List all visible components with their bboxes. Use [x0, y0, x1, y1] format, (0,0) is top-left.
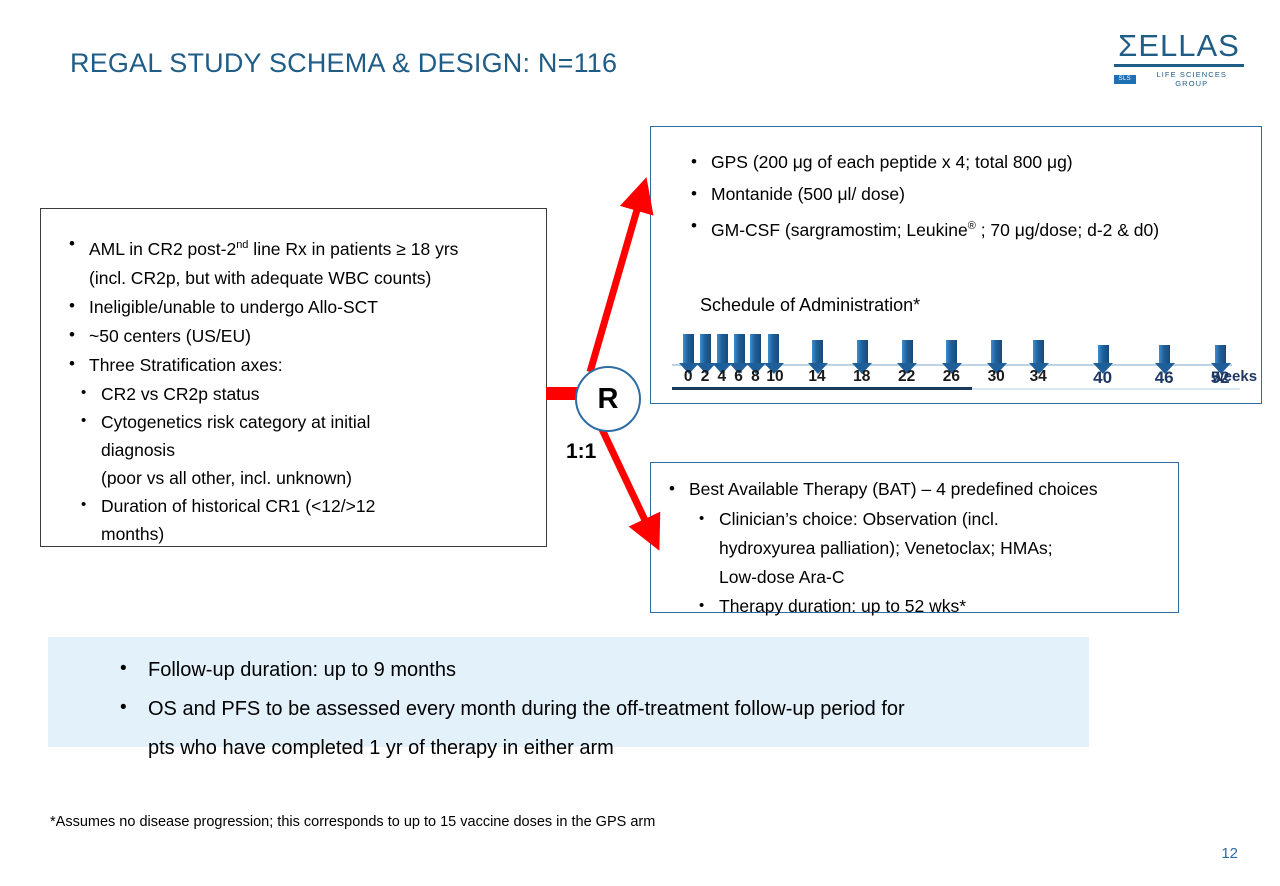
- list-item-continuation: Low-dose Ara-C: [659, 563, 1168, 592]
- timeline-unit-label: weeks: [1212, 368, 1257, 385]
- followup-list: Follow-up duration: up to 9 months OS an…: [108, 651, 1069, 767]
- list-item: Follow-up duration: up to 9 months: [108, 651, 1069, 689]
- list-item: GPS (200 μg of each peptide x 4; total 8…: [681, 147, 1251, 178]
- superscript-registered: ®: [968, 220, 976, 232]
- superscript-nd: nd: [236, 239, 248, 251]
- timeline-arrow: [1159, 345, 1170, 364]
- list-item: Duration of historical CR1 (<12/>12: [59, 492, 530, 520]
- list-item-continuation: (incl. CR2p, but with adequate WBC count…: [59, 264, 530, 292]
- timeline-tick-label: 40: [1093, 368, 1112, 388]
- timeline-tick-label: 10: [766, 368, 783, 386]
- timeline-arrow: [768, 334, 779, 364]
- timeline-tick-label: 14: [808, 368, 825, 386]
- list-item: Therapy duration: up to 52 wks*: [659, 592, 1168, 621]
- arrow-to-bat-arm: [600, 425, 651, 533]
- stratification-sublist: CR2 vs CR2p status Cytogenetics risk cat…: [59, 380, 530, 548]
- timeline-arrow: [734, 334, 745, 364]
- logo-tagline: LIFE SCIENCES GROUP: [1140, 70, 1244, 88]
- bat-arm-box: Best Available Therapy (BAT) – 4 predefi…: [650, 462, 1179, 613]
- logo-rule: [1114, 64, 1244, 67]
- timeline-arrow: [812, 340, 823, 364]
- administration-timeline: 0246810141822263034404652 weeks: [672, 322, 1237, 392]
- timeline-axis-segment-1: [672, 387, 972, 390]
- eligibility-list: AML in CR2 post-2nd line Rx in patients …: [59, 231, 530, 379]
- list-item-continuation: pts who have completed 1 yr of therapy i…: [108, 729, 1069, 767]
- randomization-ratio: 1:1: [566, 440, 596, 464]
- list-item-continuation: diagnosis: [59, 436, 530, 464]
- timeline-tick-label: 30: [988, 368, 1005, 386]
- logo-subline: SLS LIFE SCIENCES GROUP: [1114, 70, 1244, 88]
- list-item: AML in CR2 post-2nd line Rx in patients …: [59, 231, 530, 263]
- list-item: Cytogenetics risk category at initial: [59, 408, 530, 436]
- list-item: GM-CSF (sargramostim; Leukine® ; 70 μg/d…: [681, 211, 1251, 246]
- company-logo: ΣELLAS SLS LIFE SCIENCES GROUP: [1114, 30, 1244, 88]
- page-number: 12: [1221, 845, 1238, 862]
- timeline-arrow: [991, 340, 1002, 364]
- timeline-arrow: [700, 334, 711, 364]
- timeline-arrow: [902, 340, 913, 364]
- timeline-axis-segment-2: [972, 388, 1240, 390]
- timeline-tick-label: 22: [898, 368, 915, 386]
- timeline-arrow: [1098, 345, 1109, 364]
- footnote: *Assumes no disease progression; this co…: [50, 814, 655, 830]
- timeline-tick-label: 0: [684, 368, 693, 386]
- timeline-arrow: [683, 334, 694, 364]
- list-item: Ineligible/unable to undergo Allo-SCT: [59, 293, 530, 321]
- slide-canvas: REGAL STUDY SCHEMA & DESIGN: N=116 ΣELLA…: [0, 0, 1280, 886]
- bat-list: Best Available Therapy (BAT) – 4 predefi…: [659, 475, 1168, 504]
- timeline-arrow: [717, 334, 728, 364]
- timeline-tick-label: 8: [751, 368, 760, 386]
- list-item: Montanide (500 μl/ dose): [681, 179, 1251, 210]
- bat-sublist: Clinician’s choice: Observation (incl. h…: [659, 505, 1168, 621]
- timeline-arrow: [946, 340, 957, 364]
- schedule-title: Schedule of Administration*: [700, 295, 920, 316]
- timeline-arrow: [1033, 340, 1044, 364]
- timeline-tick-label: 6: [734, 368, 743, 386]
- logo-badge-icon: SLS: [1114, 75, 1136, 84]
- list-item-continuation: (poor vs all other, incl. unknown): [59, 464, 530, 492]
- timeline-arrow: [1215, 345, 1226, 364]
- timeline-arrow: [857, 340, 868, 364]
- timeline-tick-label: 46: [1155, 368, 1174, 388]
- timeline-tick-label: 34: [1030, 368, 1047, 386]
- list-item: ~50 centers (US/EU): [59, 322, 530, 350]
- timeline-tick-label: 26: [943, 368, 960, 386]
- gps-list: GPS (200 μg of each peptide x 4; total 8…: [681, 147, 1251, 246]
- list-item-continuation: months): [59, 520, 530, 548]
- list-item-continuation: hydroxyurea palliation); Venetoclax; HMA…: [659, 534, 1168, 563]
- eligibility-box: AML in CR2 post-2nd line Rx in patients …: [40, 208, 547, 547]
- timeline-tick-label: 18: [853, 368, 870, 386]
- timeline-arrow: [750, 334, 761, 364]
- list-item: Three Stratification axes:: [59, 351, 530, 379]
- page-title: REGAL STUDY SCHEMA & DESIGN: N=116: [70, 48, 617, 79]
- list-item: OS and PFS to be assessed every month du…: [108, 690, 1069, 728]
- followup-box: Follow-up duration: up to 9 months OS an…: [48, 637, 1089, 747]
- arrow-to-gps-arm: [590, 196, 641, 372]
- list-item: CR2 vs CR2p status: [59, 380, 530, 408]
- list-item: Best Available Therapy (BAT) – 4 predefi…: [659, 475, 1168, 504]
- randomization-node: R: [575, 366, 641, 432]
- timeline-tick-label: 2: [701, 368, 710, 386]
- timeline-tick-label: 4: [717, 368, 726, 386]
- logo-wordmark: ΣELLAS: [1114, 30, 1244, 61]
- list-item: Clinician’s choice: Observation (incl.: [659, 505, 1168, 534]
